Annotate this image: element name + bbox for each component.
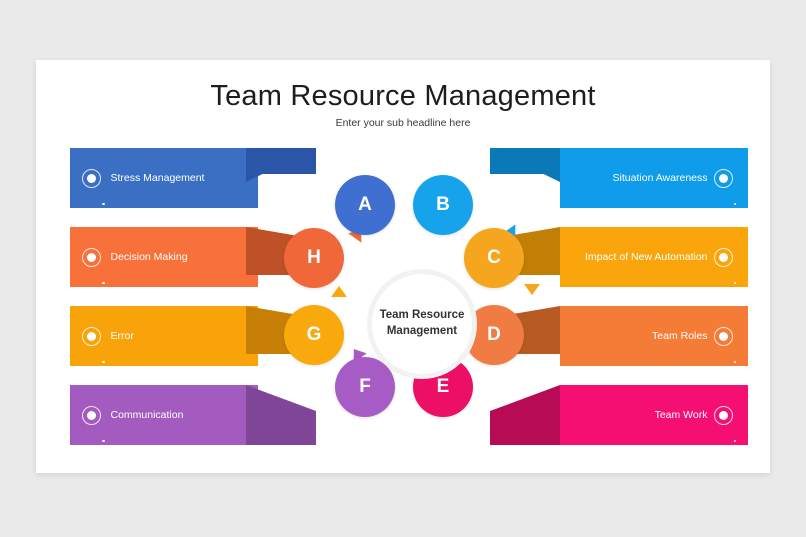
connector-chevron-c-d xyxy=(524,284,540,295)
ring-small-dot-icon xyxy=(734,440,737,443)
slide-canvas: Team Resource Management Enter your sub … xyxy=(36,60,770,473)
right-band-impact-new-automation[interactable]: Impact of New Automation xyxy=(490,227,736,287)
node-letter: H xyxy=(307,247,321,269)
right-band-label: Situation Awareness xyxy=(613,172,708,184)
right-band-wedge-fill xyxy=(490,411,560,445)
node-circle-c[interactable]: C xyxy=(464,228,524,288)
left-band-wedge-fill xyxy=(246,411,316,445)
left-band-wedge xyxy=(246,385,316,411)
left-band-label: Decision Making xyxy=(111,251,188,263)
center-hub-line2: Management xyxy=(387,325,457,337)
ring-small-dot-icon xyxy=(102,282,105,285)
ring-dot-icon xyxy=(714,248,733,267)
node-letter: A xyxy=(358,194,372,216)
ring-small-dot-icon xyxy=(734,361,737,364)
left-band-wedge-fill xyxy=(246,148,316,174)
node-circle-g[interactable]: G xyxy=(284,305,344,365)
node-letter: F xyxy=(359,376,371,398)
ring-dot-icon xyxy=(714,169,733,188)
page-title: Team Resource Management xyxy=(36,80,770,113)
ring-dot-icon xyxy=(82,327,101,346)
connector-chevron-g-h xyxy=(331,286,347,297)
left-band-label: Stress Management xyxy=(111,172,205,184)
right-band-label: Impact of New Automation xyxy=(585,251,708,263)
ring-small-dot-icon xyxy=(102,361,105,364)
page-subtitle: Enter your sub headline here xyxy=(36,117,770,129)
right-band-situation-awareness[interactable]: Situation Awareness xyxy=(490,148,736,208)
node-circle-h[interactable]: H xyxy=(284,228,344,288)
center-hub-text: Team Resource Management xyxy=(380,308,465,339)
node-letter: D xyxy=(487,324,501,346)
right-band-label: Team Work xyxy=(655,409,708,421)
center-hub: Team Resource Management xyxy=(367,269,477,379)
left-band-error[interactable]: Error xyxy=(70,306,316,366)
right-band-label: Team Roles xyxy=(652,330,707,342)
node-circle-a[interactable]: A xyxy=(335,175,395,235)
node-letter: E xyxy=(437,376,450,398)
right-band-wedge-fill xyxy=(490,148,560,174)
center-hub-line1: Team Resource xyxy=(380,309,465,321)
ring-small-dot-icon xyxy=(102,440,105,443)
ring-dot-icon xyxy=(714,406,733,425)
left-band-communication[interactable]: Communication xyxy=(70,385,316,445)
ring-dot-icon xyxy=(82,248,101,267)
right-band-team-roles[interactable]: Team Roles xyxy=(490,306,736,366)
ring-dot-icon xyxy=(82,169,101,188)
node-letter: G xyxy=(307,324,322,346)
ring-dot-icon xyxy=(714,327,733,346)
node-letter: C xyxy=(487,247,501,269)
node-circle-b[interactable]: B xyxy=(413,175,473,235)
ring-small-dot-icon xyxy=(734,203,737,206)
ring-small-dot-icon xyxy=(734,282,737,285)
ring-dot-icon xyxy=(82,406,101,425)
left-band-label: Communication xyxy=(111,409,184,421)
left-band-decision-making[interactable]: Decision Making xyxy=(70,227,316,287)
left-band-label: Error xyxy=(111,330,134,342)
node-letter: B xyxy=(436,194,450,216)
left-band-stress-management[interactable]: Stress Management xyxy=(70,148,316,208)
ring-small-dot-icon xyxy=(102,203,105,206)
right-band-team-work[interactable]: Team Work xyxy=(490,385,736,445)
right-band-wedge xyxy=(490,385,560,411)
